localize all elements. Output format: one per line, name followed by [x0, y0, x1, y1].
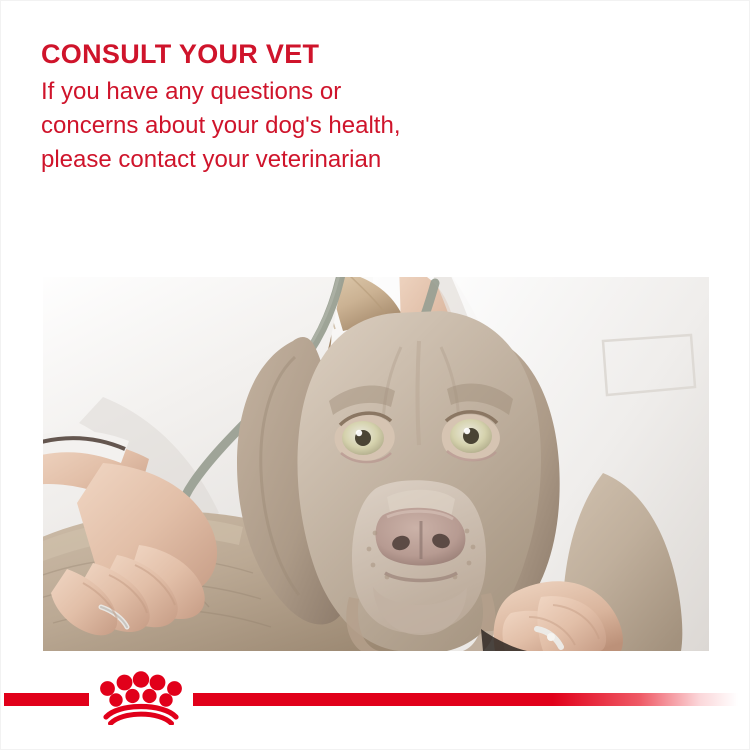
page-title: CONSULT YOUR VET	[41, 39, 581, 69]
footer-rule-left	[4, 693, 89, 706]
royal-canin-crown-icon	[95, 667, 187, 725]
footer-brand-strip	[1, 661, 750, 751]
text-block: CONSULT YOUR VET If you have any questio…	[41, 39, 581, 177]
footer-rule-right	[193, 693, 738, 706]
poster-root: CONSULT YOUR VET If you have any questio…	[0, 0, 750, 750]
body-copy: If you have any questions or concerns ab…	[41, 75, 581, 177]
body-copy-line-1: If you have any questions or	[41, 75, 581, 109]
body-copy-line-3: please contact your veterinarian	[41, 143, 581, 177]
body-copy-line-2: concerns about your dog's health,	[41, 109, 581, 143]
hero-photo	[43, 277, 709, 651]
